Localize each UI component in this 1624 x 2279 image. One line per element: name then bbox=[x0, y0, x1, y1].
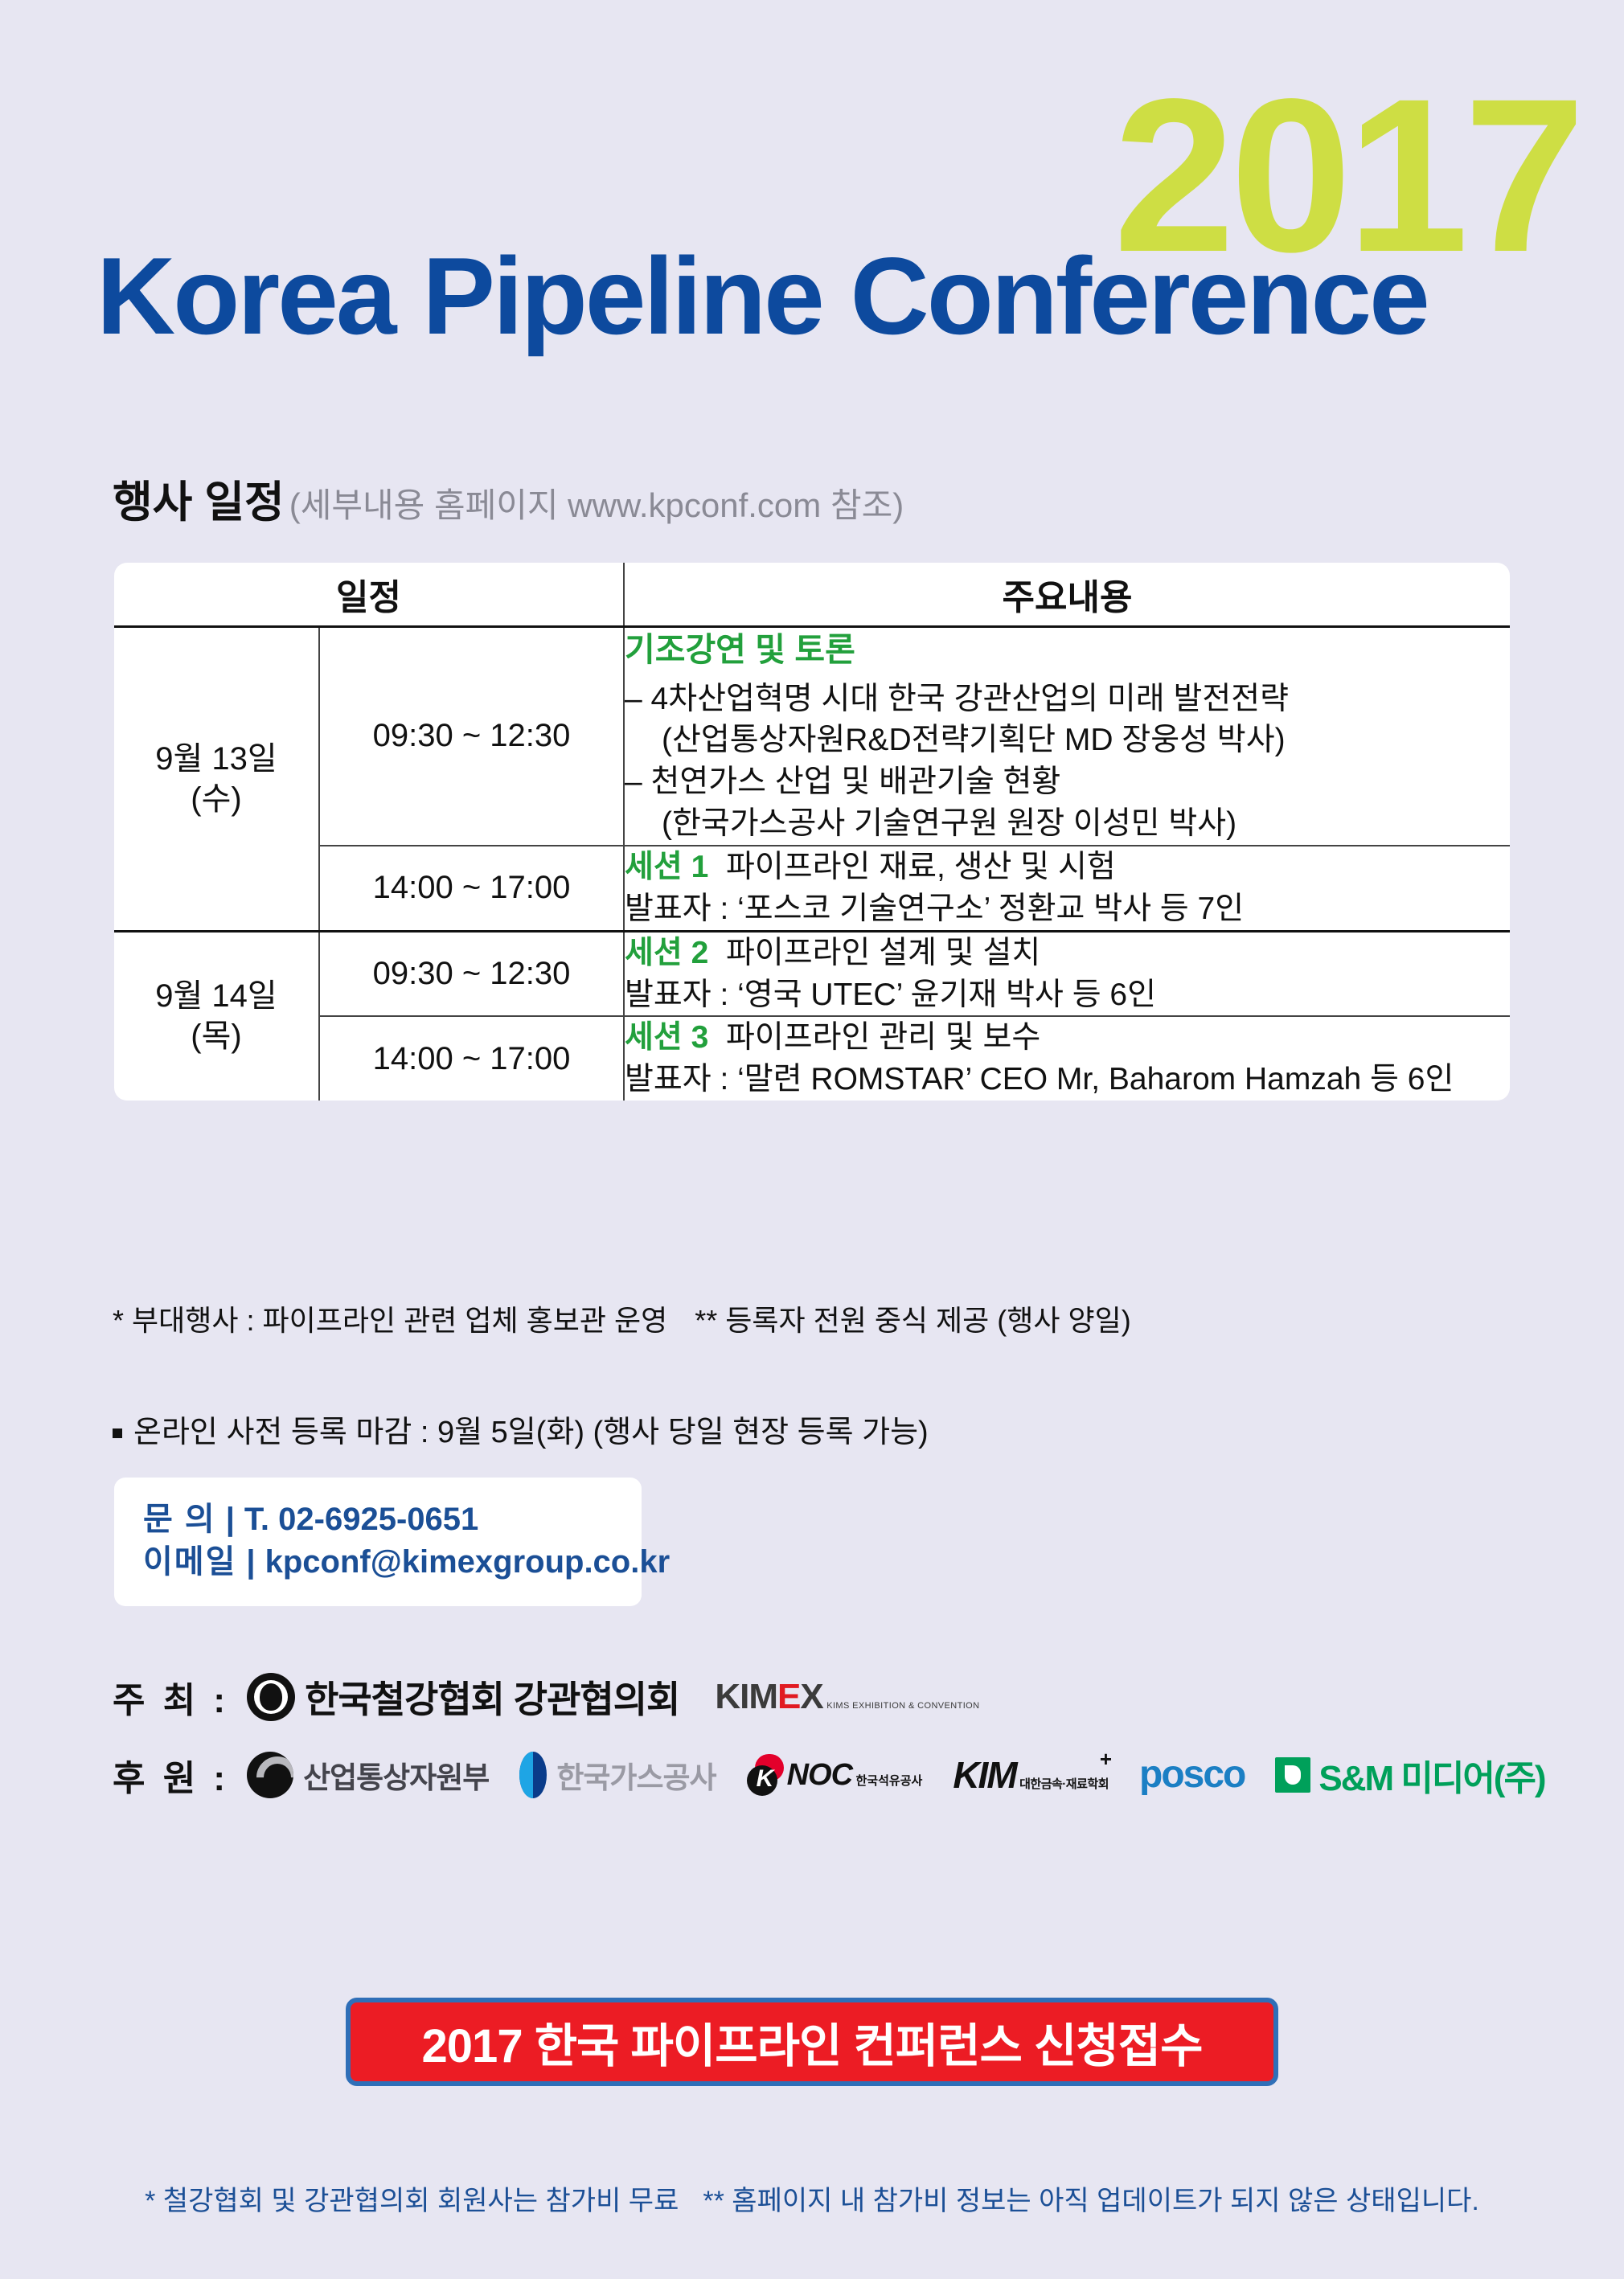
registration-cta-label: 2017 한국 파이프라인 컨퍼런스 신청접수 bbox=[422, 2008, 1203, 2076]
square-bullet-icon bbox=[113, 1428, 122, 1438]
contact-separator: | bbox=[226, 1502, 235, 1537]
contact-email-label: 이메일 bbox=[143, 1544, 236, 1580]
table-row: 9월 13일 (수) 09:30 ~ 12:30 기조강연 및 토론 – 4차산… bbox=[114, 627, 1510, 846]
note-lunch: ** 등록자 전원 중식 제공 (행사 양일) bbox=[695, 1304, 1131, 1337]
session-1-presenter: 발표자 : ‘포스코 기술연구소’ 정환교 박사 등 7인 bbox=[625, 888, 1510, 930]
time-cell: 09:30 ~ 12:30 bbox=[319, 931, 624, 1016]
sm-media-mark-icon bbox=[1275, 1757, 1310, 1793]
kimex-logo-text: KIMEX bbox=[715, 1677, 822, 1716]
session-2-title-line: 세션 2 파이프라인 설계 및 설치 bbox=[625, 933, 1510, 974]
motie-logo: 산업통상자원부 bbox=[247, 1752, 489, 1798]
kimex-e: E bbox=[777, 1677, 800, 1716]
time-cell: 09:30 ~ 12:30 bbox=[319, 627, 624, 846]
contact-phone-line: 문 의|T. 02-6925-0651 bbox=[143, 1498, 642, 1541]
kosa-seal-icon bbox=[247, 1673, 295, 1721]
content-cell-session-1: 세션 1 파이프라인 재료, 생산 및 시험 발표자 : ‘포스코 기술연구소’… bbox=[624, 846, 1510, 931]
contact-separator: | bbox=[246, 1544, 255, 1580]
time-cell: 14:00 ~ 17:00 bbox=[319, 1016, 624, 1101]
keynote-label: 기조강연 및 토론 bbox=[625, 628, 1510, 672]
contact-box: 문 의|T. 02-6925-0651 이메일|kpconf@kimexgrou… bbox=[114, 1478, 642, 1606]
table-row: 14:00 ~ 17:00 세션 1 파이프라인 재료, 생산 및 시험 발표자… bbox=[114, 846, 1510, 931]
footer-notes: * 철강협회 및 강관협의회 회원사는 참가비 무료** 홈페이지 내 참가비 … bbox=[0, 2179, 1624, 2218]
content-cell-session-3: 세션 3 파이프라인 관리 및 보수 발표자 : ‘말련 ROMSTAR’ CE… bbox=[624, 1016, 1510, 1101]
kim-subtitle: 대한금속·재료학회 bbox=[1019, 1777, 1109, 1791]
time-cell: 14:00 ~ 17:00 bbox=[319, 846, 624, 931]
session-3-title: 파이프라인 관리 및 보수 bbox=[726, 1020, 1040, 1055]
kogas-logo: 한국가스공사 bbox=[519, 1752, 716, 1798]
kimex-x: X bbox=[800, 1677, 822, 1716]
support-label: 후 원 : bbox=[113, 1749, 229, 1801]
kogas-flame-icon bbox=[519, 1752, 547, 1798]
schedule-notes: * 부대행사 : 파이프라인 관련 업체 홍보관 운영** 등록자 전원 중식 … bbox=[113, 1297, 1131, 1339]
keynote-line-3: – 천연가스 산업 및 배관기술 현황 bbox=[625, 761, 1510, 803]
schedule-table: 일정 주요내용 9월 13일 (수) 09:30 ~ 12:30 기조강연 및 … bbox=[114, 563, 1510, 1101]
registration-deadline-text: 온라인 사전 등록 마감 : 9월 5일(화) (행사 당일 현장 등록 가능) bbox=[133, 1416, 929, 1449]
footer-note-update: ** 홈페이지 내 참가비 정보는 아직 업데이트가 되지 않은 상태입니다. bbox=[703, 2186, 1478, 2216]
posco-logo: posco bbox=[1139, 1756, 1245, 1794]
kim-text-group: KIM+ 대한금속·재료학회 bbox=[953, 1756, 1109, 1793]
footer-note-free: * 철강협회 및 강관협의회 회원사는 참가비 무료 bbox=[145, 2186, 679, 2216]
table-row: 14:00 ~ 17:00 세션 3 파이프라인 관리 및 보수 발표자 : ‘… bbox=[114, 1016, 1510, 1101]
date-line-2: (목) bbox=[191, 1019, 241, 1054]
sm-media-logo-text: S&M 미디어(주) bbox=[1318, 1749, 1544, 1801]
knoc-text-group: NOC 한국석유공사 bbox=[787, 1760, 923, 1790]
session-2-title: 파이프라인 설계 및 설치 bbox=[726, 936, 1040, 970]
kimex-logo: KIMEX KIMS EXHIBITION & CONVENTION bbox=[715, 1679, 979, 1715]
posco-logo-text: posco bbox=[1139, 1756, 1245, 1794]
content-cell-session-2: 세션 2 파이프라인 설계 및 설치 발표자 : ‘영국 UTEC’ 윤기재 박… bbox=[624, 931, 1510, 1016]
knoc-logo-text: NOC bbox=[787, 1758, 852, 1792]
sponsor-block: 주 최 : 한국철강협회 강관협의회 KIMEX KIMS EXHIBITION… bbox=[113, 1670, 1545, 1801]
knoc-logo: K NOC 한국석유공사 bbox=[747, 1754, 923, 1796]
session-3-presenter: 발표자 : ‘말련 ROMSTAR’ CEO Mr, Baharom Hamza… bbox=[625, 1059, 1510, 1101]
contact-phone-value[interactable]: T. 02-6925-0651 bbox=[244, 1502, 478, 1537]
content-cell-keynote: 기조강연 및 토론 – 4차산업혁명 시대 한국 강관산업의 미래 발전전략 (… bbox=[624, 627, 1510, 846]
column-header-date: 일정 bbox=[114, 563, 624, 627]
table-header-row: 일정 주요내용 bbox=[114, 563, 1510, 627]
schedule-heading-main: 행사 일정 bbox=[113, 478, 285, 527]
keynote-line-2: (산업통상자원R&D전략기획단 MD 장웅성 박사) bbox=[625, 719, 1510, 761]
keynote-line-1: – 4차산업혁명 시대 한국 강관산업의 미래 발전전략 bbox=[625, 678, 1510, 720]
session-2-label: 세션 2 bbox=[625, 936, 708, 970]
knoc-k-letter: K bbox=[757, 1767, 774, 1791]
session-1-title: 파이프라인 재료, 생산 및 시험 bbox=[726, 850, 1116, 884]
kim-plus-icon: + bbox=[1100, 1748, 1112, 1769]
session-2-presenter: 발표자 : ‘영국 UTEC’ 윤기재 박사 등 6인 bbox=[625, 974, 1510, 1016]
host-row: 주 최 : 한국철강협회 강관협의회 KIMEX KIMS EXHIBITION… bbox=[113, 1670, 1545, 1724]
page-title: Korea Pipeline Conference bbox=[96, 241, 1428, 350]
date-line-1: 9월 14일 bbox=[155, 978, 277, 1014]
session-3-title-line: 세션 3 파이프라인 관리 및 보수 bbox=[625, 1017, 1510, 1059]
contact-email-value[interactable]: kpconf@kimexgroup.co.kr bbox=[265, 1544, 671, 1580]
host-label: 주 최 : bbox=[113, 1671, 229, 1723]
contact-phone-label: 문 의 bbox=[143, 1502, 216, 1537]
poster-hero: 2017 Korea Pipeline Conference bbox=[0, 0, 1624, 418]
knoc-subtitle: 한국석유공사 bbox=[856, 1774, 923, 1788]
session-1-label: 세션 1 bbox=[625, 850, 708, 884]
table-row: 9월 14일 (목) 09:30 ~ 12:30 세션 2 파이프라인 설계 및… bbox=[114, 931, 1510, 1016]
note-side-events: * 부대행사 : 파이프라인 관련 업체 홍보관 운영 bbox=[113, 1304, 667, 1337]
support-row: 후 원 : 산업통상자원부 한국가스공사 K NOC 한국석유공사 KIM+ 대… bbox=[113, 1749, 1545, 1801]
kim-logo-text: KIM bbox=[953, 1754, 1015, 1796]
date-line-2: (수) bbox=[191, 781, 241, 817]
knoc-droplet-icon: K bbox=[747, 1754, 784, 1796]
column-header-content: 주요내용 bbox=[624, 563, 1510, 627]
motie-logo-text: 산업통상자원부 bbox=[303, 1753, 489, 1797]
schedule-heading: 행사 일정(세부내용 홈페이지 www.kpconf.com 참조) bbox=[113, 481, 904, 524]
registration-deadline-note: 온라인 사전 등록 마감 : 9월 5일(화) (행사 당일 현장 등록 가능) bbox=[113, 1407, 929, 1451]
session-3-label: 세션 3 bbox=[625, 1020, 708, 1055]
date-cell-day1: 9월 13일 (수) bbox=[114, 627, 319, 932]
schedule-heading-sub: (세부내용 홈페이지 www.kpconf.com 참조) bbox=[289, 486, 904, 524]
kimex-kim: KIM bbox=[715, 1677, 777, 1716]
date-cell-day2: 9월 14일 (목) bbox=[114, 931, 319, 1101]
contact-email-line: 이메일|kpconf@kimexgroup.co.kr bbox=[143, 1541, 642, 1584]
keynote-line-4: (한국가스공사 기술연구원 원장 이성민 박사) bbox=[625, 803, 1510, 845]
kim-logo: KIM+ 대한금속·재료학회 bbox=[953, 1756, 1109, 1793]
kogas-logo-text: 한국가스공사 bbox=[556, 1753, 716, 1797]
sm-media-logo: S&M 미디어(주) bbox=[1275, 1749, 1544, 1801]
registration-cta-button[interactable]: 2017 한국 파이프라인 컨퍼런스 신청접수 bbox=[346, 1998, 1278, 2086]
kosa-logo-text: 한국철강협회 강관협의회 bbox=[305, 1670, 679, 1724]
kimex-subtitle: KIMS EXHIBITION & CONVENTION bbox=[826, 1701, 979, 1711]
taegeuk-icon bbox=[247, 1752, 293, 1798]
kosa-logo: 한국철강협회 강관협의회 bbox=[247, 1670, 679, 1724]
date-line-1: 9월 13일 bbox=[155, 741, 277, 777]
session-1-title-line: 세션 1 파이프라인 재료, 생산 및 시험 bbox=[625, 846, 1510, 888]
